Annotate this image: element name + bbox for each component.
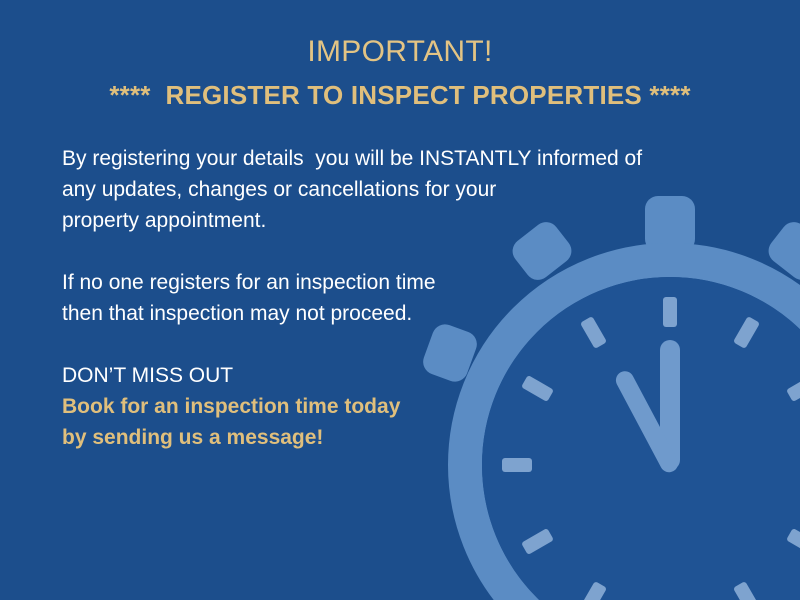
cta-line: by sending us a message! xyxy=(62,422,722,453)
paragraph-line: If no one registers for an inspection ti… xyxy=(62,267,722,298)
paragraph-line: then that inspection may not proceed. xyxy=(62,298,722,329)
page-title-important: IMPORTANT! xyxy=(0,32,800,72)
promotional-slide: IMPORTANT! **** REGISTER TO INSPECT PROP… xyxy=(0,0,800,600)
body-block: By registering your details you will be … xyxy=(62,143,722,453)
page-title-register: **** REGISTER TO INSPECT PROPERTIES **** xyxy=(0,78,800,112)
paragraph-registering: By registering your details you will be … xyxy=(62,143,722,236)
paragraph-line: By registering your details you will be … xyxy=(62,143,722,174)
paragraph-spacer xyxy=(62,236,722,267)
cta-line: Book for an inspection time today xyxy=(62,391,722,422)
paragraph-no-registrations: If no one registers for an inspection ti… xyxy=(62,267,722,329)
paragraph-dont-miss-out: DON’T MISS OUT xyxy=(62,360,722,391)
call-to-action: Book for an inspection time today by sen… xyxy=(62,391,722,453)
paragraph-line: DON’T MISS OUT xyxy=(62,360,722,391)
paragraph-line: property appointment. xyxy=(62,205,722,236)
paragraph-line: any updates, changes or cancellations fo… xyxy=(62,174,722,205)
paragraph-spacer xyxy=(62,329,722,360)
heading-block: IMPORTANT! **** REGISTER TO INSPECT PROP… xyxy=(0,32,800,112)
